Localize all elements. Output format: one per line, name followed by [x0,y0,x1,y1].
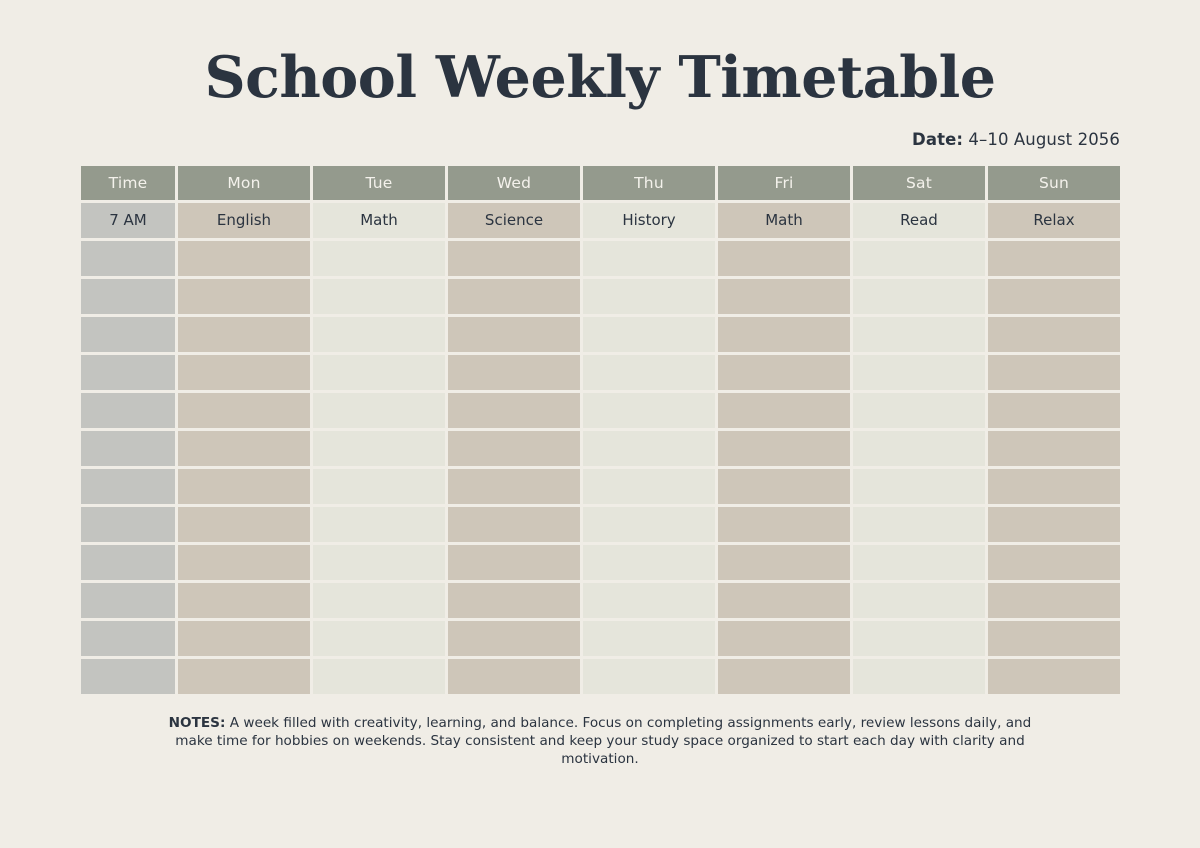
column-header-tue: Tue [313,166,445,200]
schedule-cell-thu[interactable] [583,659,715,694]
schedule-cell-sun[interactable] [988,583,1120,618]
notes-section: NOTES: A week filled with creativity, le… [160,714,1040,769]
schedule-cell-sat[interactable] [853,279,985,314]
schedule-cell-wed[interactable] [448,431,580,466]
table-row [81,355,1120,390]
schedule-cell-wed[interactable] [448,469,580,504]
time-cell[interactable] [81,279,175,314]
schedule-cell-thu[interactable] [583,241,715,276]
schedule-cell-mon[interactable] [178,507,310,542]
schedule-cell-wed[interactable] [448,241,580,276]
schedule-cell-wed[interactable] [448,621,580,656]
schedule-cell-sat[interactable] [853,659,985,694]
table-row [81,317,1120,352]
schedule-cell-mon[interactable] [178,431,310,466]
schedule-cell-sat[interactable] [853,583,985,618]
schedule-cell-thu[interactable] [583,469,715,504]
schedule-cell-mon[interactable] [178,621,310,656]
schedule-cell-tue[interactable] [313,279,445,314]
table-row [81,393,1120,428]
date-line: Date: 4–10 August 2056 [0,130,1200,149]
date-value: 4–10 August 2056 [968,130,1120,149]
schedule-cell-sun[interactable] [988,279,1120,314]
schedule-cell-mon[interactable] [178,355,310,390]
time-cell[interactable] [81,507,175,542]
date-label: Date: [912,130,963,149]
schedule-cell-mon[interactable] [178,279,310,314]
schedule-cell-sun[interactable] [988,659,1120,694]
schedule-cell-fri[interactable] [718,583,850,618]
schedule-cell-thu[interactable] [583,431,715,466]
schedule-cell-thu[interactable] [583,355,715,390]
timetable-container: Time Mon Tue Wed Thu Fri Sat Sun 7 AMEng… [78,163,1122,697]
schedule-cell-tue[interactable] [313,241,445,276]
time-cell[interactable]: 7 AM [81,203,175,238]
table-row: 7 AMEnglishMathScienceHistoryMathReadRel… [81,203,1120,238]
schedule-cell-mon[interactable]: English [178,203,310,238]
schedule-cell-sun[interactable] [988,393,1120,428]
column-header-wed: Wed [448,166,580,200]
schedule-cell-sat[interactable] [853,355,985,390]
schedule-cell-mon[interactable] [178,469,310,504]
page-title: School Weekly Timetable [0,0,1200,108]
header-row: Time Mon Tue Wed Thu Fri Sat Sun [81,166,1120,200]
column-header-fri: Fri [718,166,850,200]
table-row [81,621,1120,656]
schedule-cell-wed[interactable] [448,545,580,580]
schedule-cell-sat[interactable] [853,469,985,504]
schedule-cell-wed[interactable] [448,279,580,314]
column-header-thu: Thu [583,166,715,200]
schedule-cell-sun[interactable] [988,621,1120,656]
schedule-cell-fri[interactable] [718,279,850,314]
notes-label: NOTES: [169,715,226,731]
table-row [81,583,1120,618]
column-header-mon: Mon [178,166,310,200]
schedule-cell-wed[interactable] [448,355,580,390]
schedule-cell-thu[interactable] [583,393,715,428]
schedule-cell-thu[interactable] [583,545,715,580]
schedule-cell-mon[interactable] [178,659,310,694]
schedule-cell-sun[interactable] [988,241,1120,276]
schedule-cell-wed[interactable] [448,317,580,352]
schedule-cell-tue[interactable] [313,393,445,428]
time-cell[interactable] [81,621,175,656]
column-header-sun: Sun [988,166,1120,200]
timetable-head: Time Mon Tue Wed Thu Fri Sat Sun [81,166,1120,200]
schedule-cell-fri[interactable] [718,469,850,504]
schedule-cell-tue[interactable] [313,317,445,352]
schedule-cell-fri[interactable] [718,507,850,542]
schedule-cell-sat[interactable] [853,393,985,428]
time-cell[interactable] [81,317,175,352]
schedule-cell-sat[interactable] [853,317,985,352]
schedule-cell-fri[interactable] [718,241,850,276]
schedule-cell-sun[interactable] [988,355,1120,390]
schedule-cell-wed[interactable] [448,583,580,618]
schedule-cell-sat[interactable] [853,545,985,580]
table-row [81,431,1120,466]
notes-text: A week filled with creativity, learning,… [175,715,1031,767]
schedule-cell-fri[interactable]: Math [718,203,850,238]
table-row [81,469,1120,504]
schedule-cell-thu[interactable] [583,583,715,618]
time-cell[interactable] [81,545,175,580]
schedule-cell-mon[interactable] [178,241,310,276]
schedule-cell-fri[interactable] [718,431,850,466]
schedule-cell-thu[interactable] [583,621,715,656]
schedule-cell-sat[interactable] [853,621,985,656]
schedule-cell-sun[interactable] [988,545,1120,580]
table-row [81,241,1120,276]
schedule-cell-fri[interactable] [718,393,850,428]
schedule-cell-mon[interactable] [178,583,310,618]
table-row [81,507,1120,542]
table-row [81,279,1120,314]
schedule-cell-tue[interactable] [313,355,445,390]
time-cell[interactable] [81,469,175,504]
schedule-cell-tue[interactable] [313,469,445,504]
schedule-cell-mon[interactable] [178,545,310,580]
schedule-cell-fri[interactable] [718,317,850,352]
timetable-body: 7 AMEnglishMathScienceHistoryMathReadRel… [81,203,1120,694]
schedule-cell-sun[interactable]: Relax [988,203,1120,238]
schedule-cell-thu[interactable] [583,507,715,542]
table-row [81,545,1120,580]
table-row [81,659,1120,694]
schedule-cell-thu[interactable]: History [583,203,715,238]
schedule-cell-tue[interactable]: Math [313,203,445,238]
schedule-cell-fri[interactable] [718,621,850,656]
time-cell[interactable] [81,583,175,618]
schedule-cell-sat[interactable] [853,431,985,466]
schedule-cell-thu[interactable] [583,279,715,314]
schedule-cell-sun[interactable] [988,317,1120,352]
schedule-cell-sun[interactable] [988,507,1120,542]
time-cell[interactable] [81,241,175,276]
time-cell[interactable] [81,355,175,390]
schedule-cell-tue[interactable] [313,545,445,580]
schedule-cell-fri[interactable] [718,659,850,694]
schedule-cell-tue[interactable] [313,431,445,466]
time-cell[interactable] [81,431,175,466]
column-header-sat: Sat [853,166,985,200]
schedule-cell-wed[interactable] [448,393,580,428]
schedule-cell-tue[interactable] [313,507,445,542]
schedule-cell-mon[interactable] [178,393,310,428]
schedule-cell-sun[interactable] [988,431,1120,466]
schedule-cell-fri[interactable] [718,355,850,390]
schedule-cell-sat[interactable]: Read [853,203,985,238]
schedule-cell-wed[interactable]: Science [448,203,580,238]
schedule-cell-tue[interactable] [313,583,445,618]
time-cell[interactable] [81,393,175,428]
schedule-cell-wed[interactable] [448,659,580,694]
schedule-cell-tue[interactable] [313,659,445,694]
time-cell[interactable] [81,659,175,694]
schedule-cell-sat[interactable] [853,241,985,276]
column-header-time: Time [81,166,175,200]
schedule-cell-mon[interactable] [178,317,310,352]
schedule-cell-fri[interactable] [718,545,850,580]
schedule-cell-thu[interactable] [583,317,715,352]
schedule-cell-sat[interactable] [853,507,985,542]
schedule-cell-tue[interactable] [313,621,445,656]
schedule-cell-wed[interactable] [448,507,580,542]
weekly-timetable: Time Mon Tue Wed Thu Fri Sat Sun 7 AMEng… [78,163,1123,697]
schedule-cell-sun[interactable] [988,469,1120,504]
